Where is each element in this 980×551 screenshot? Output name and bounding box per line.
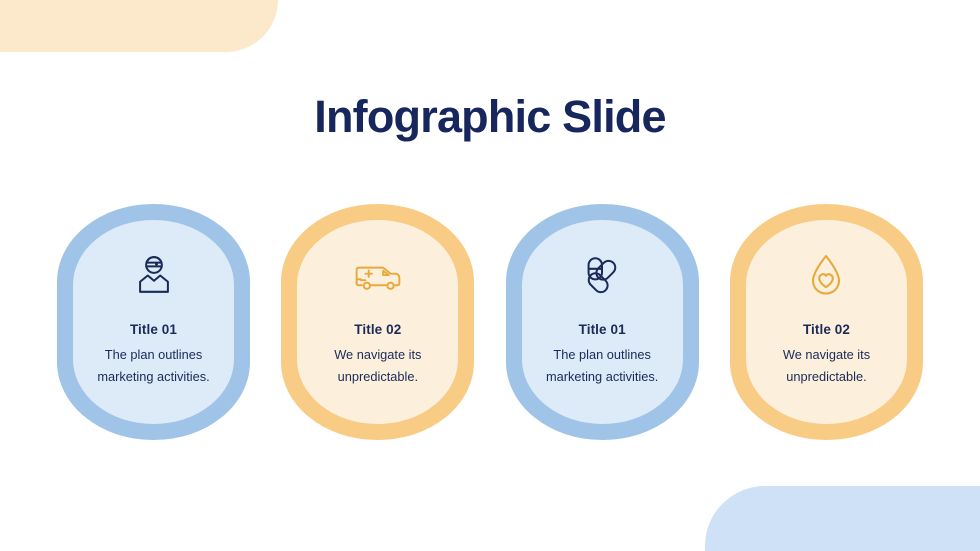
info-card-1[interactable]: Title 01 The plan outlines marketing act… <box>57 204 250 440</box>
infographic-slide: Infographic Slide Title 01 The plan outl… <box>0 0 980 551</box>
info-card-1-body-line1: The plan outlines <box>105 347 202 362</box>
info-card-4-title: Title 02 <box>803 322 850 337</box>
info-card-1-title: Title 01 <box>130 322 177 337</box>
info-card-3-body-line1: The plan outlines <box>553 347 650 362</box>
info-card-3-title: Title 01 <box>579 322 626 337</box>
info-card-2-panel: Title 02 We navigate its unpredictable. <box>297 220 458 424</box>
decoration-bottom-right <box>705 486 980 551</box>
info-card-3[interactable]: Title 01 The plan outlines marketing act… <box>506 204 699 440</box>
info-card-3-body-line2: marketing activities. <box>546 369 658 384</box>
decoration-top-left <box>0 0 278 52</box>
info-card-1-body: The plan outlines marketing activities. <box>73 344 234 388</box>
info-card-4-body-line1: We navigate its <box>783 347 870 362</box>
ambulance-icon <box>352 250 404 302</box>
info-card-4-body: We navigate its unpredictable. <box>746 344 907 388</box>
card-row: Title 01 The plan outlines marketing act… <box>57 204 923 440</box>
info-card-4-body-line2: unpredictable. <box>786 369 866 384</box>
info-card-2[interactable]: Title 02 We navigate its unpredictable. <box>281 204 474 440</box>
page-title: Infographic Slide <box>0 92 980 142</box>
info-card-2-body-line1: We navigate its <box>334 347 421 362</box>
info-card-2-body: We navigate its unpredictable. <box>297 344 458 388</box>
info-card-1-panel: Title 01 The plan outlines marketing act… <box>73 220 234 424</box>
info-card-3-body: The plan outlines marketing activities. <box>522 344 683 388</box>
info-card-2-body-line2: unpredictable. <box>338 369 418 384</box>
doctor-icon <box>131 250 177 302</box>
info-card-4-panel: Title 02 We navigate its unpredictable. <box>746 220 907 424</box>
blood-drop-heart-icon <box>805 250 847 302</box>
info-card-4[interactable]: Title 02 We navigate its unpredictable. <box>730 204 923 440</box>
pills-icon <box>579 250 625 302</box>
info-card-1-body-line2: marketing activities. <box>97 369 209 384</box>
info-card-2-title: Title 02 <box>354 322 401 337</box>
info-card-3-panel: Title 01 The plan outlines marketing act… <box>522 220 683 424</box>
